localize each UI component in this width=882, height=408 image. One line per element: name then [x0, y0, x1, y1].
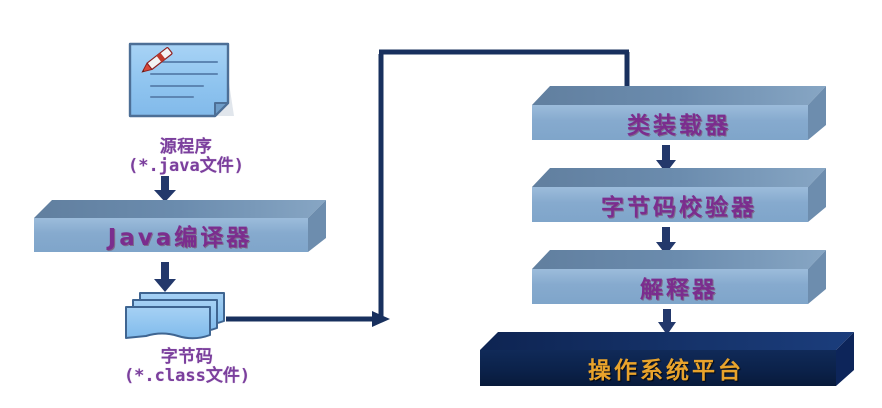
bytecode-caption-line1: 字节码: [92, 348, 282, 367]
os-platform-box: 操作系统平台: [474, 330, 858, 392]
bytecode-verifier-box: 字节码校验器: [528, 166, 830, 228]
os-platform-box-label: 操作系统平台: [588, 351, 744, 385]
stacked-class-files-icon: [112, 291, 230, 346]
arrow-down-icon: [150, 262, 180, 292]
bytecode-caption: 字节码 (*.class文件): [92, 348, 282, 386]
source-file-icon: [127, 41, 235, 123]
interpreter-box-label: 解释器: [640, 270, 718, 304]
interpreter-box: 解释器: [528, 248, 830, 310]
bytecode-verifier-box-label: 字节码校验器: [601, 188, 757, 222]
class-loader-box-label: 类装载器: [627, 106, 731, 140]
class-loader-box: 类装载器: [528, 84, 830, 146]
bytecode-icon: [112, 291, 230, 346]
document-with-pencil-icon: [127, 41, 235, 123]
diagram-canvas: 源程序 (*.java文件): [0, 0, 882, 408]
bytecode-caption-line2: (*.class文件): [92, 367, 282, 386]
arrow-compiler-to-bytecode: [150, 262, 180, 292]
